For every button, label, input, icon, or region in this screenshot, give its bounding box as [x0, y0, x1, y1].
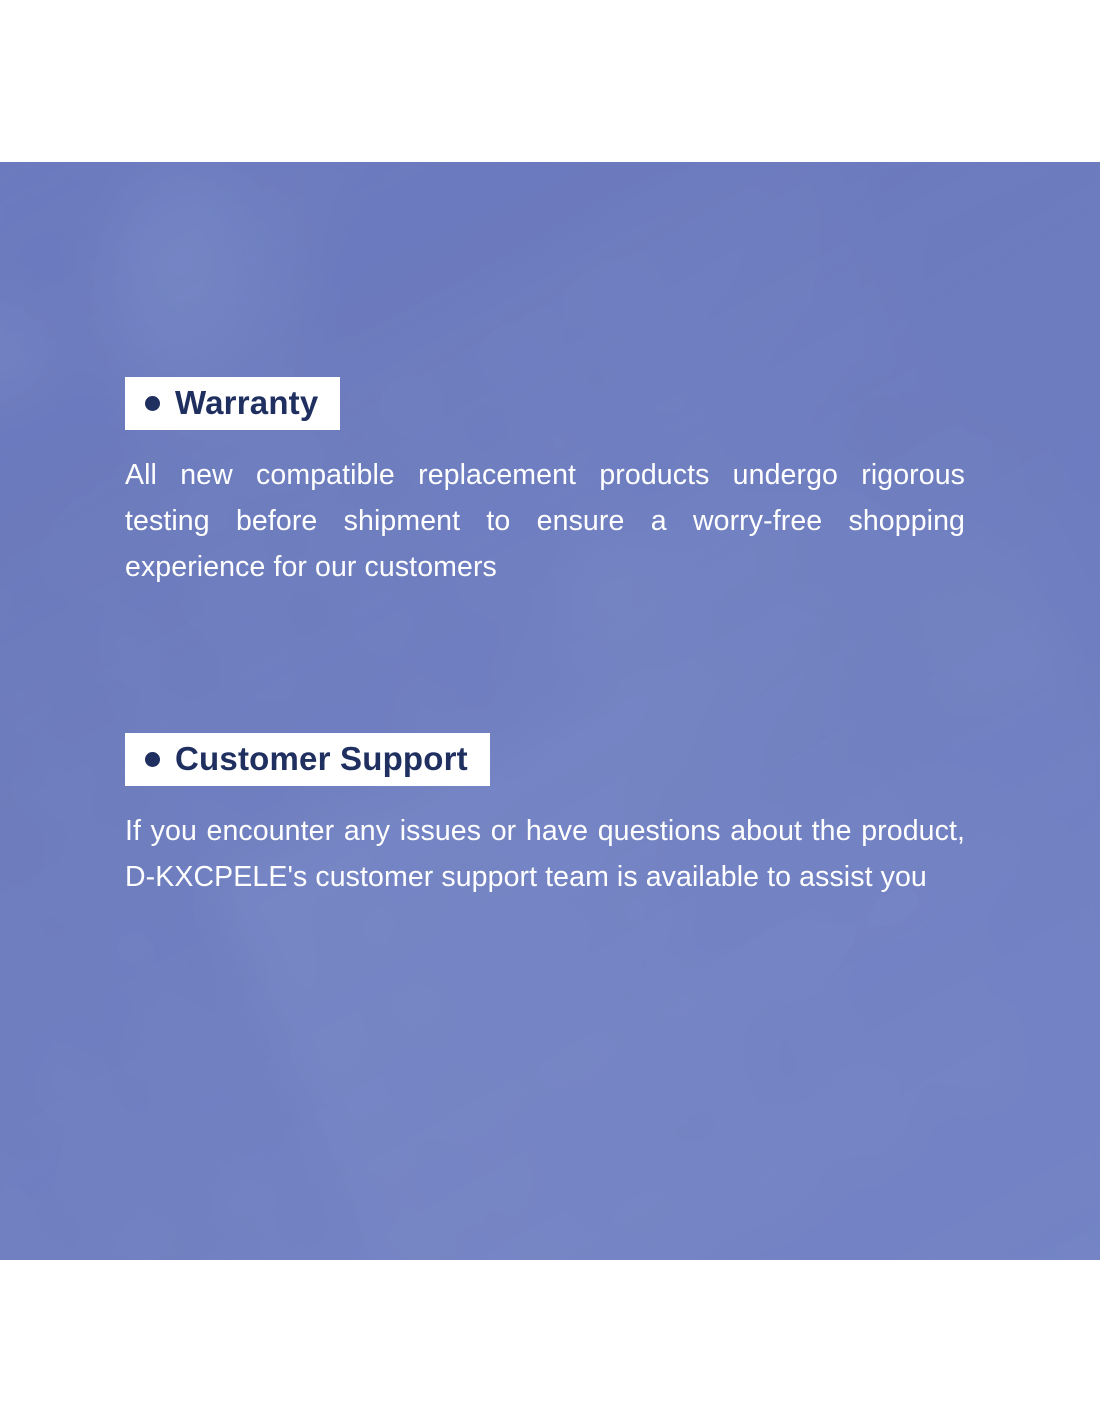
- bullet-dot-icon: [145, 752, 160, 767]
- customer-support-heading-chip: Customer Support: [125, 733, 490, 786]
- warranty-body-text: All new compatible replacement products …: [125, 452, 965, 590]
- warranty-heading-label: Warranty: [175, 386, 318, 419]
- customer-support-body-text: If you encounter any issues or have ques…: [125, 808, 965, 900]
- banner-content: Warranty All new compatible replacement …: [0, 162, 1100, 1260]
- section-customer-support: Customer Support If you encounter any is…: [125, 733, 970, 900]
- warranty-heading-chip: Warranty: [125, 377, 340, 430]
- info-banner: Warranty All new compatible replacement …: [0, 162, 1100, 1260]
- product-info-page: Warranty All new compatible replacement …: [0, 0, 1100, 1422]
- section-warranty: Warranty All new compatible replacement …: [125, 377, 970, 590]
- customer-support-heading-label: Customer Support: [175, 742, 468, 775]
- bullet-dot-icon: [145, 396, 160, 411]
